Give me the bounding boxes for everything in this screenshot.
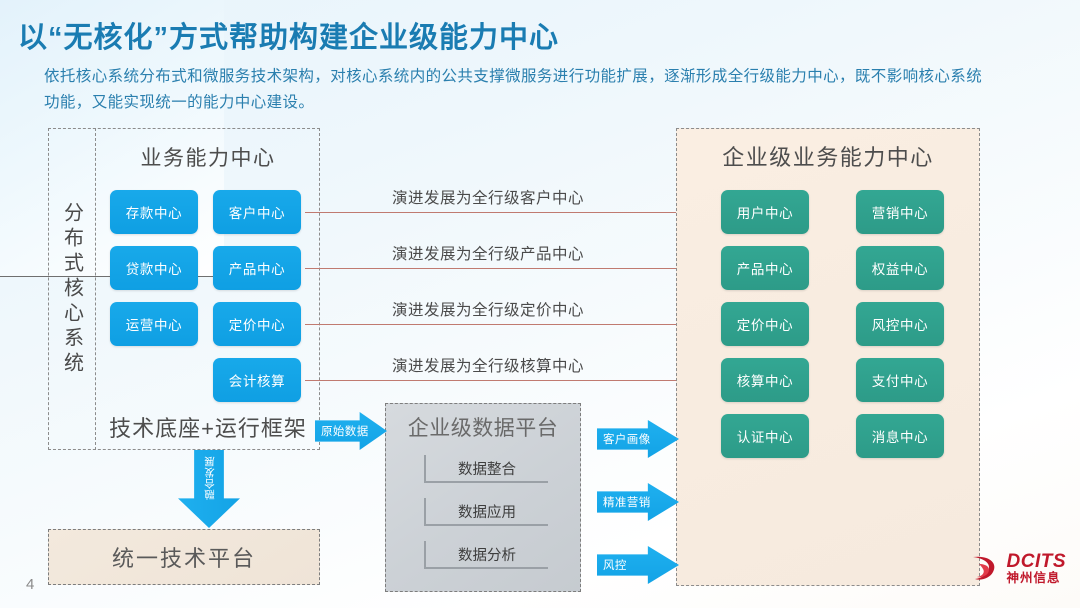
evolution-arrow-line-product xyxy=(305,268,718,269)
core-system-vertical-label: 分布式核心系统 xyxy=(48,128,96,450)
core-card-operation[interactable]: 运营中心 xyxy=(110,302,198,346)
customer-profile-arrow: 客户画像 xyxy=(597,420,679,458)
page-subtitle: 依托核心系统分布式和微服务技术架构，对核心系统内的公共支撑微服务进行功能扩展，逐… xyxy=(44,64,984,116)
ent-card-pricing[interactable]: 定价中心 xyxy=(721,302,809,346)
logo-cn-text: 神州信息 xyxy=(1007,572,1067,585)
ent-card-accounting[interactable]: 核算中心 xyxy=(721,358,809,402)
core-card-pricing[interactable]: 定价中心 xyxy=(213,302,301,346)
evolution-arrow-line-pricing xyxy=(305,324,718,325)
risk-control-arrow: 风控 xyxy=(597,546,679,584)
raw-data-arrow: 原始数据 xyxy=(315,412,387,450)
enterprise-capability-title: 企业级业务能力中心 xyxy=(678,140,978,172)
evolution-label-accounting: 演进发展为全行级核算中心 xyxy=(392,354,584,376)
data-platform-title: 企业级数据平台 xyxy=(385,412,581,442)
evolution-label-product: 演进发展为全行级产品中心 xyxy=(392,242,584,264)
data-platform-item-analysis[interactable]: 数据分析 xyxy=(424,541,548,569)
integration-development-arrow: 融合发展 xyxy=(178,450,240,528)
evolution-label-customer: 演进发展为全行级客户中心 xyxy=(392,186,584,208)
core-card-product[interactable]: 产品中心 xyxy=(213,246,301,290)
ent-card-payment[interactable]: 支付中心 xyxy=(856,358,944,402)
company-logo: DCITS 神州信息 xyxy=(967,552,1067,586)
dcits-logo-mark xyxy=(967,552,1001,586)
evolution-label-pricing: 演进发展为全行级定价中心 xyxy=(392,298,584,320)
unified-platform-label: 统一技术平台 xyxy=(112,541,256,573)
precision-marketing-arrow: 精准营销 xyxy=(597,483,679,521)
risk-control-arrow-label: 风控 xyxy=(597,557,627,573)
evolution-arrow-line-customer xyxy=(305,212,718,213)
data-platform-item-integration[interactable]: 数据整合 xyxy=(424,455,548,483)
integration-development-arrow-label: 融合发展 xyxy=(202,456,217,500)
customer-profile-arrow-label: 客户画像 xyxy=(597,431,651,447)
evolution-arrow-line-accounting xyxy=(305,380,718,381)
ent-card-risk[interactable]: 风控中心 xyxy=(856,302,944,346)
raw-data-arrow-label: 原始数据 xyxy=(315,423,369,439)
core-card-customer[interactable]: 客户中心 xyxy=(213,190,301,234)
tech-base-label: 技术底座+运行框架 xyxy=(96,411,320,443)
page-number: 4 xyxy=(26,576,34,593)
slide-canvas: 以“无核化”方式帮助构建企业级能力中心 依托核心系统分布式和微服务技术架构，对核… xyxy=(0,0,1080,608)
ent-card-rights[interactable]: 权益中心 xyxy=(856,246,944,290)
business-capability-title: 业务能力中心 xyxy=(96,142,320,172)
precision-marketing-arrow-label: 精准营销 xyxy=(597,494,651,510)
core-card-loan[interactable]: 贷款中心 xyxy=(110,246,198,290)
ent-card-marketing[interactable]: 营销中心 xyxy=(856,190,944,234)
core-card-deposit[interactable]: 存款中心 xyxy=(110,190,198,234)
page-title: 以“无核化”方式帮助构建企业级能力中心 xyxy=(18,14,559,56)
logo-text: DCITS 神州信息 xyxy=(1007,552,1067,585)
ent-card-auth[interactable]: 认证中心 xyxy=(721,414,809,458)
ent-card-product[interactable]: 产品中心 xyxy=(721,246,809,290)
ent-card-user[interactable]: 用户中心 xyxy=(721,190,809,234)
data-platform-item-application[interactable]: 数据应用 xyxy=(424,498,548,526)
unified-platform-container: 统一技术平台 xyxy=(48,529,320,585)
logo-en-text: DCITS xyxy=(1007,552,1067,572)
core-card-accounting[interactable]: 会计核算 xyxy=(213,358,301,402)
ent-card-message[interactable]: 消息中心 xyxy=(856,414,944,458)
